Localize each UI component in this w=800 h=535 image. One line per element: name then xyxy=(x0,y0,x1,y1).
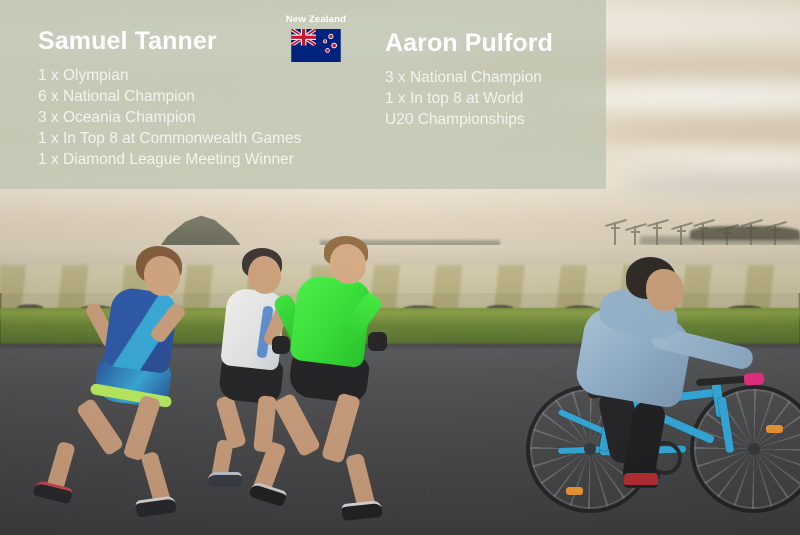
athlete-name-right: Aaron Pulford xyxy=(385,30,606,56)
achievement-item: U20 Championships xyxy=(385,109,606,130)
country-label: New Zealand xyxy=(280,14,352,26)
runner-green-top xyxy=(268,236,428,508)
achievement-item: 6 x National Champion xyxy=(38,86,348,107)
reflector-icon xyxy=(566,487,583,495)
achievement-item: 1 x In top 8 at World xyxy=(385,88,606,109)
achievement-list-left: 1 x Olympian 6 x National Champion 3 x O… xyxy=(38,65,348,170)
country-block: New Zealand xyxy=(280,14,352,62)
achievement-item: 3 x Oceania Champion xyxy=(38,107,348,128)
screenshot-root: Samuel Tanner 1 x Olympian 6 x National … xyxy=(0,0,800,535)
bicycle-grip xyxy=(744,372,765,385)
achievement-item: 3 x National Champion xyxy=(385,67,606,88)
new-zealand-flag-icon xyxy=(291,29,341,62)
reflector-icon xyxy=(766,425,783,433)
cyclist-on-bicycle xyxy=(500,225,800,525)
runner-blue-singlet xyxy=(28,246,213,502)
athlete-card-right: Aaron Pulford 3 x National Champion 1 x … xyxy=(348,0,606,189)
achievement-item: 1 x Diamond League Meeting Winner xyxy=(38,149,348,170)
achievement-item: 1 x Olympian xyxy=(38,65,348,86)
athlete-info-panel: Samuel Tanner 1 x Olympian 6 x National … xyxy=(0,0,606,189)
achievement-list-right: 3 x National Champion 1 x In top 8 at Wo… xyxy=(385,67,606,130)
bicycle-front-wheel xyxy=(690,385,800,513)
achievement-item: 1 x In Top 8 at Commonwealth Games xyxy=(38,128,348,149)
